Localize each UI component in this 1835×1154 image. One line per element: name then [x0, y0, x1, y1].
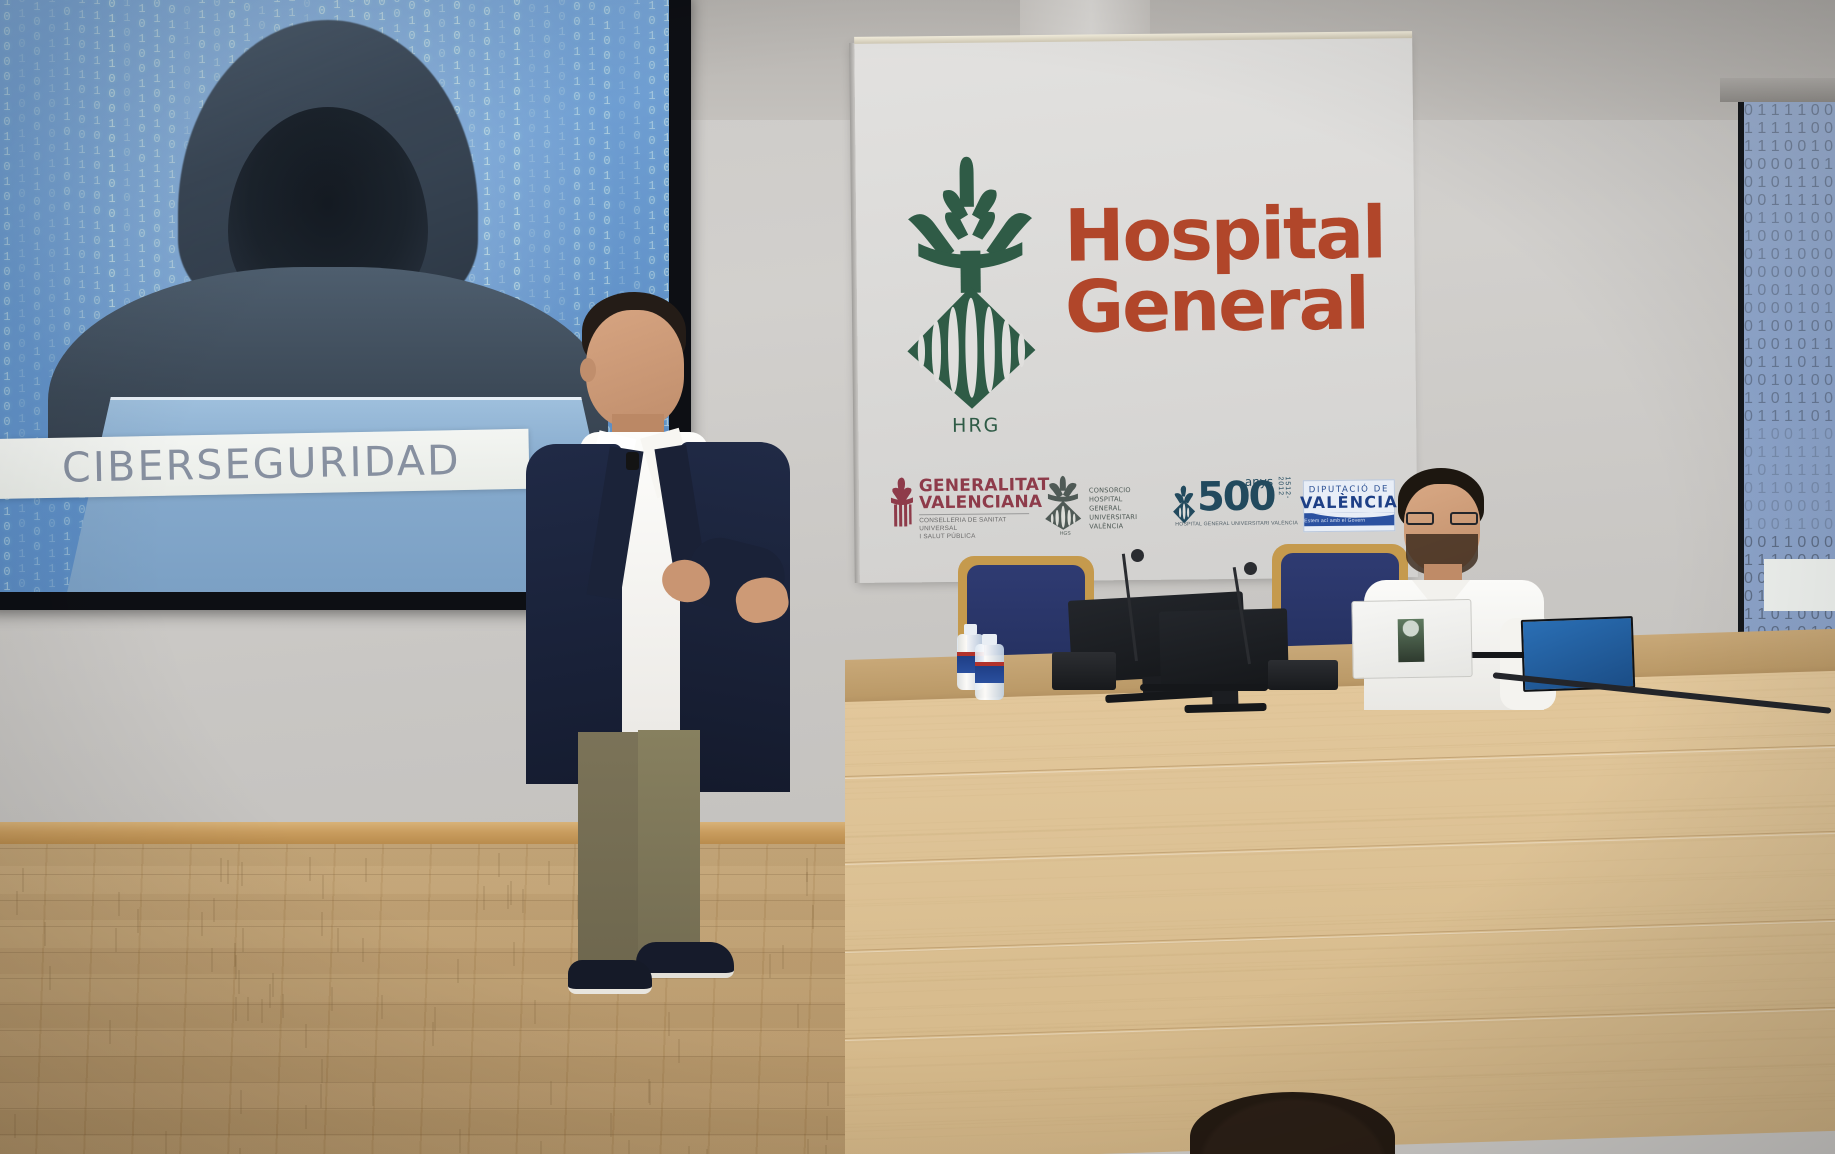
consorcio-line-3: UNIVERSITARI [1089, 513, 1137, 523]
banner-brand-text: Hospital General [1064, 197, 1386, 341]
bottle-label [975, 666, 1004, 683]
bottle-cap [982, 634, 997, 645]
brand-line-1: Hospital [1064, 197, 1385, 271]
generalitat-sub-1: CONSELLERIA DE SANITAT UNIVERSAL [919, 516, 1029, 533]
speaker-head [586, 310, 684, 428]
brand-line-2: General [1065, 268, 1386, 342]
consorcio-line-2: HOSPITAL GENERAL [1089, 495, 1137, 514]
presidium-desk [845, 660, 1835, 1154]
consorcio-line-4: VALÈNCIA [1089, 522, 1137, 532]
audience-hair [1190, 1092, 1395, 1154]
screen-roller-housing [1720, 78, 1835, 102]
speaker-trouser-left [578, 732, 640, 972]
hrg-logo-caption: HRG [934, 414, 1018, 437]
conference-photo: 1 1 1 1 1 0 1 1 1 0 0 1 0 1 0 1 0 1 0 0 … [0, 0, 1835, 1154]
hospital-general-banner: Hospital General HRG [854, 37, 1418, 583]
anys-500-label: anys [1245, 475, 1273, 489]
projected-slide-secondary: 0 1 1 1 1 0 0 1 1 1 1 1 0 0 1 1 1 0 0 1 … [1744, 102, 1835, 637]
desk-front-panel [845, 671, 1835, 1154]
consorcio-line-1: CONSORCIO [1089, 486, 1137, 496]
mic-base-1 [1052, 652, 1116, 690]
anys-500-years: 1512-2012 [1277, 476, 1291, 499]
desk-cable [1140, 684, 1268, 691]
speaker-presenter [520, 292, 810, 992]
generalitat-sub-2: I SALUT PÚBLICA [919, 532, 1029, 541]
slide-title-band: CIBERSEGURIDAD [0, 429, 530, 499]
consorcio-mark-caption: HGS [1045, 531, 1085, 537]
laptop-white [1351, 599, 1472, 679]
mic-base-2 [1268, 660, 1338, 690]
slide-title-band-secondary [1764, 559, 1835, 611]
generalitat-name-2: VALENCIANA [919, 494, 1050, 512]
laptop-sticker-icon [1397, 619, 1424, 662]
sponsor-logo-row: GENERALITAT VALENCIANA CONSELLERIA DE SA… [881, 469, 1402, 552]
mic-head [1244, 562, 1257, 575]
gooseneck-microphone-1 [1135, 553, 1149, 661]
mic-head [1131, 549, 1144, 562]
binary-code-rain-secondary: 0 1 1 1 1 0 0 1 1 1 1 1 0 0 1 1 1 0 0 1 … [1744, 102, 1835, 637]
speaker-ear [580, 358, 596, 382]
eyeglasses-icon [1406, 512, 1478, 525]
slide-title: CIBERSEGURIDAD [62, 436, 462, 492]
speaker-trouser-right [638, 730, 700, 975]
speaker-shoe-left [568, 960, 652, 994]
projection-screen-right: 0 1 1 1 1 0 0 1 1 1 1 1 0 0 1 1 1 0 0 1 … [1738, 96, 1835, 641]
lapel-microphone-icon [626, 452, 639, 470]
hospital-general-logo-icon [899, 154, 1042, 410]
gooseneck-microphone-2 [1248, 566, 1262, 664]
audience-member-foreground [1190, 1092, 1395, 1154]
anys-500-sub: HOSPITAL GENERAL UNIVERSITARI VALÈNCIA [1175, 520, 1298, 527]
water-bottle-2 [975, 634, 1004, 700]
